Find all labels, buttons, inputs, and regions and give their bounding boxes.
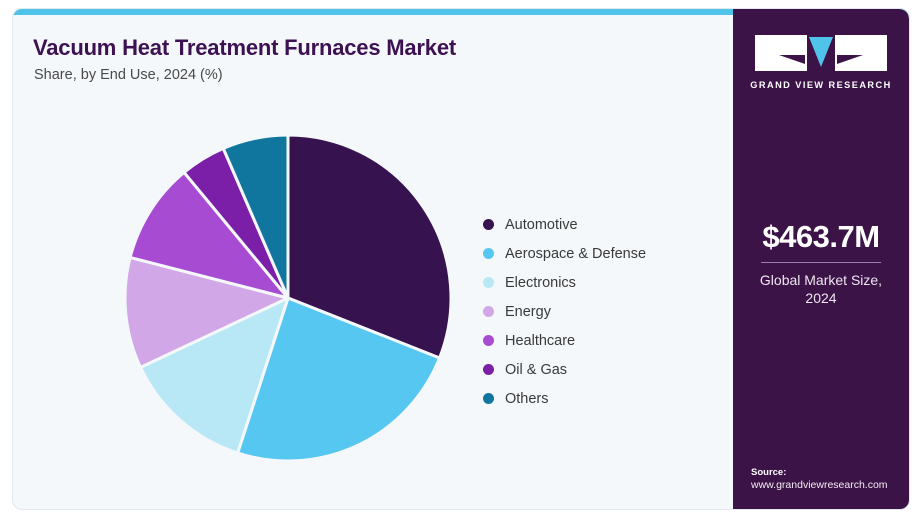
infographic-root: Vacuum Heat Treatment Furnaces Market Sh… xyxy=(0,0,922,518)
pie-chart xyxy=(123,133,453,463)
legend-swatch-icon xyxy=(483,306,494,317)
pie-chart-svg xyxy=(123,133,453,463)
legend-swatch-icon xyxy=(483,364,494,375)
legend-item-label: Oil & Gas xyxy=(505,362,567,378)
market-size-caption-line1: Global Market Size, xyxy=(733,271,909,290)
market-size-value: $463.7M xyxy=(733,221,909,254)
page-title: Vacuum Heat Treatment Furnaces Market xyxy=(33,35,456,61)
market-size-caption-line2: 2024 xyxy=(733,289,909,308)
market-size-stat: $463.7M Global Market Size, 2024 xyxy=(733,221,909,308)
source-label: Source: xyxy=(751,467,901,478)
legend-item[interactable]: Automotive xyxy=(483,210,646,239)
chart-legend: AutomotiveAerospace & DefenseElectronics… xyxy=(483,210,646,413)
legend-item-label: Aerospace & Defense xyxy=(505,246,646,262)
legend-swatch-icon xyxy=(483,277,494,288)
chart-pane: Vacuum Heat Treatment Furnaces Market Sh… xyxy=(13,15,735,509)
legend-item[interactable]: Electronics xyxy=(483,268,646,297)
source-block: Source: www.grandviewresearch.com xyxy=(751,467,901,491)
legend-swatch-icon xyxy=(483,393,494,404)
legend-item[interactable]: Aerospace & Defense xyxy=(483,239,646,268)
source-url[interactable]: www.grandviewresearch.com xyxy=(751,479,901,491)
page-subtitle: Share, by End Use, 2024 (%) xyxy=(34,67,223,83)
gvr-logo-icon xyxy=(755,33,887,73)
brand-logo: GRAND VIEW RESEARCH xyxy=(733,33,909,90)
legend-item-label: Automotive xyxy=(505,217,578,233)
legend-item-label: Healthcare xyxy=(505,333,575,349)
chart-card: Vacuum Heat Treatment Furnaces Market Sh… xyxy=(12,8,910,510)
legend-swatch-icon xyxy=(483,248,494,259)
legend-swatch-icon xyxy=(483,219,494,230)
legend-item-label: Others xyxy=(505,391,549,407)
market-size-caption: Global Market Size, 2024 xyxy=(733,271,909,309)
legend-item-label: Electronics xyxy=(505,275,576,291)
legend-item[interactable]: Energy xyxy=(483,297,646,326)
brand-panel: GRAND VIEW RESEARCH $463.7M Global Marke… xyxy=(733,9,909,510)
stat-divider xyxy=(761,262,881,263)
legend-item[interactable]: Others xyxy=(483,384,646,413)
brand-name: GRAND VIEW RESEARCH xyxy=(733,80,909,90)
legend-swatch-icon xyxy=(483,335,494,346)
legend-item[interactable]: Oil & Gas xyxy=(483,355,646,384)
legend-item-label: Energy xyxy=(505,304,551,320)
legend-item[interactable]: Healthcare xyxy=(483,326,646,355)
